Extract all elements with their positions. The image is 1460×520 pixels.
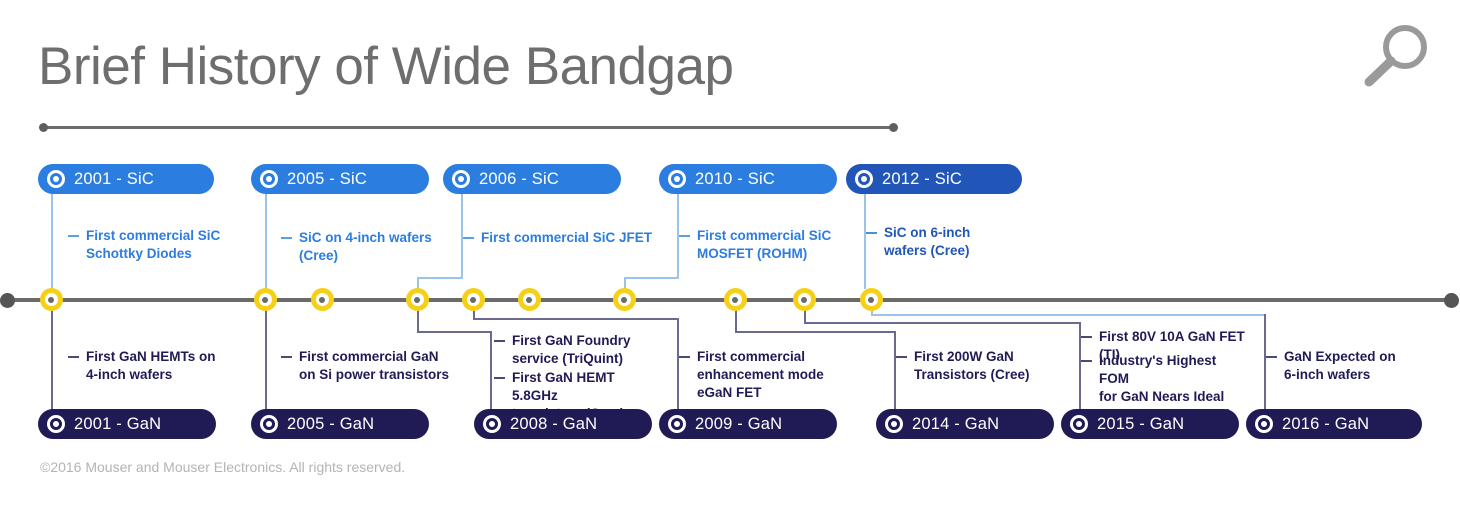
- event-text: GaN Expected on 6-inch wafers: [1284, 348, 1396, 384]
- event-gan-2001: First GaN HEMTs on 4-inch wafers: [68, 348, 238, 384]
- dash-icon: [281, 237, 292, 239]
- badge-label: 2010 - SiC: [695, 170, 775, 189]
- event-text: First GaN Foundry service (TriQuint): [512, 332, 631, 368]
- badge-sic-2012[interactable]: 2012 - SiC: [846, 164, 1022, 194]
- badge-gan-2001[interactable]: 2001 - GaN: [38, 409, 216, 439]
- connector-gan-2008-v: [490, 331, 492, 412]
- dash-icon: [463, 237, 474, 239]
- badge-label: 2005 - SiC: [287, 170, 367, 189]
- connector-gan-2016-h: [871, 314, 1264, 316]
- badge-label: 2009 - GaN: [695, 415, 782, 434]
- target-icon: [483, 415, 501, 433]
- axis-node-2001[interactable]: [40, 288, 63, 311]
- dash-icon: [68, 356, 79, 358]
- badge-label: 2016 - GaN: [1282, 415, 1369, 434]
- event-text: First GaN HEMTs on 4-inch wafers: [86, 348, 216, 384]
- target-icon: [1255, 415, 1273, 433]
- connector-gan-2008-h: [417, 331, 492, 333]
- target-icon: [452, 170, 470, 188]
- axis-node-2006[interactable]: [311, 288, 334, 311]
- connector-gan-2001: [51, 300, 53, 412]
- badge-gan-2005[interactable]: 2005 - GaN: [251, 409, 429, 439]
- connector-gan-2015-h: [804, 322, 1079, 324]
- event-sic-2012: SiC on 6-inch wafers (Cree): [866, 224, 1016, 260]
- connector-gan-2009-h: [473, 318, 677, 320]
- connector-sic-2006-h: [417, 277, 463, 279]
- axis-start-cap: [0, 293, 15, 308]
- target-icon: [47, 170, 65, 188]
- event-gan-2008-a: First GaN Foundry service (TriQuint): [494, 332, 659, 368]
- badge-label: 2006 - SiC: [479, 170, 559, 189]
- target-icon: [668, 415, 686, 433]
- target-icon: [1070, 415, 1088, 433]
- target-icon: [260, 170, 278, 188]
- event-gan-2016: GaN Expected on 6-inch wafers: [1266, 348, 1426, 384]
- dash-icon: [679, 235, 690, 237]
- event-text: First commercial enhancement mode eGaN F…: [697, 348, 824, 402]
- event-text: First commercial GaN on Si power transis…: [299, 348, 449, 384]
- dash-icon: [896, 356, 907, 358]
- dash-icon: [281, 356, 292, 358]
- badge-label: 2005 - GaN: [287, 415, 374, 434]
- event-gan-2014: First 200W GaN Transistors (Cree): [896, 348, 1056, 384]
- badge-gan-2016[interactable]: 2016 - GaN: [1246, 409, 1422, 439]
- event-sic-2005: SiC on 4-inch wafers (Cree): [281, 229, 466, 265]
- badge-label: 2014 - GaN: [912, 415, 999, 434]
- event-text: SiC on 6-inch wafers (Cree): [884, 224, 970, 260]
- page-title: Brief History of Wide Bandgap: [38, 36, 733, 97]
- event-text: First 200W GaN Transistors (Cree): [914, 348, 1030, 384]
- timeline-infographic: Brief History of Wide Bandgap 2001 - SiC: [0, 0, 1460, 520]
- badge-gan-2014[interactable]: 2014 - GaN: [876, 409, 1054, 439]
- axis-node-2015[interactable]: [793, 288, 816, 311]
- badge-label: 2015 - GaN: [1097, 415, 1184, 434]
- event-sic-2010: First commercial SiC MOSFET (ROHM): [679, 227, 854, 263]
- event-gan-2009: First commercial enhancement mode eGaN F…: [679, 348, 844, 402]
- badge-label: 2012 - SiC: [882, 170, 962, 189]
- badge-sic-2006[interactable]: 2006 - SiC: [443, 164, 621, 194]
- axis-node-2009[interactable]: [462, 288, 485, 311]
- dash-icon: [1081, 360, 1092, 362]
- connector-gan-2014-h: [735, 331, 894, 333]
- event-text: First commercial SiC JFET: [481, 229, 652, 247]
- connector-gan-2005: [265, 300, 267, 412]
- event-gan-2005: First commercial GaN on Si power transis…: [281, 348, 466, 384]
- target-icon: [260, 415, 278, 433]
- dash-icon: [494, 340, 505, 342]
- target-icon: [47, 415, 65, 433]
- badge-sic-2001[interactable]: 2001 - SiC: [38, 164, 214, 194]
- dash-icon: [866, 232, 877, 234]
- copyright-notice: ©2016 Mouser and Mouser Electronics. All…: [40, 459, 405, 475]
- event-text: First commercial SiC Schottky Diodes: [86, 227, 220, 263]
- event-sic-2001: First commercial SiC Schottky Diodes: [68, 227, 238, 263]
- badge-label: 2001 - GaN: [74, 415, 161, 434]
- dash-icon: [68, 235, 79, 237]
- axis-node-2008[interactable]: [406, 288, 429, 311]
- badge-gan-2015[interactable]: 2015 - GaN: [1061, 409, 1239, 439]
- dash-icon: [1081, 336, 1092, 338]
- badge-gan-2009[interactable]: 2009 - GaN: [659, 409, 837, 439]
- axis-node-2016[interactable]: [860, 288, 883, 311]
- connector-sic-2005: [265, 193, 267, 300]
- badge-gan-2008[interactable]: 2008 - GaN: [474, 409, 652, 439]
- dash-icon: [679, 356, 690, 358]
- event-text: SiC on 4-inch wafers (Cree): [299, 229, 466, 265]
- target-icon: [668, 170, 686, 188]
- badge-sic-2010[interactable]: 2010 - SiC: [659, 164, 837, 194]
- axis-node-2010a[interactable]: [518, 288, 541, 311]
- dash-icon: [494, 377, 505, 379]
- badge-label: 2001 - SiC: [74, 170, 154, 189]
- search-icon[interactable]: [1358, 22, 1432, 99]
- axis-node-2014[interactable]: [724, 288, 747, 311]
- axis-node-2005[interactable]: [254, 288, 277, 311]
- target-icon: [885, 415, 903, 433]
- connector-sic-2001: [51, 193, 53, 300]
- target-icon: [855, 170, 873, 188]
- dash-icon: [1266, 356, 1277, 358]
- event-sic-2006: First commercial SiC JFET: [463, 229, 653, 247]
- axis-end-cap: [1444, 293, 1459, 308]
- badge-label: 2008 - GaN: [510, 415, 597, 434]
- connector-sic-2010-h: [624, 277, 679, 279]
- event-text: First commercial SiC MOSFET (ROHM): [697, 227, 831, 263]
- badge-sic-2005[interactable]: 2005 - SiC: [251, 164, 429, 194]
- title-divider: [44, 126, 893, 129]
- axis-node-2010[interactable]: [613, 288, 636, 311]
